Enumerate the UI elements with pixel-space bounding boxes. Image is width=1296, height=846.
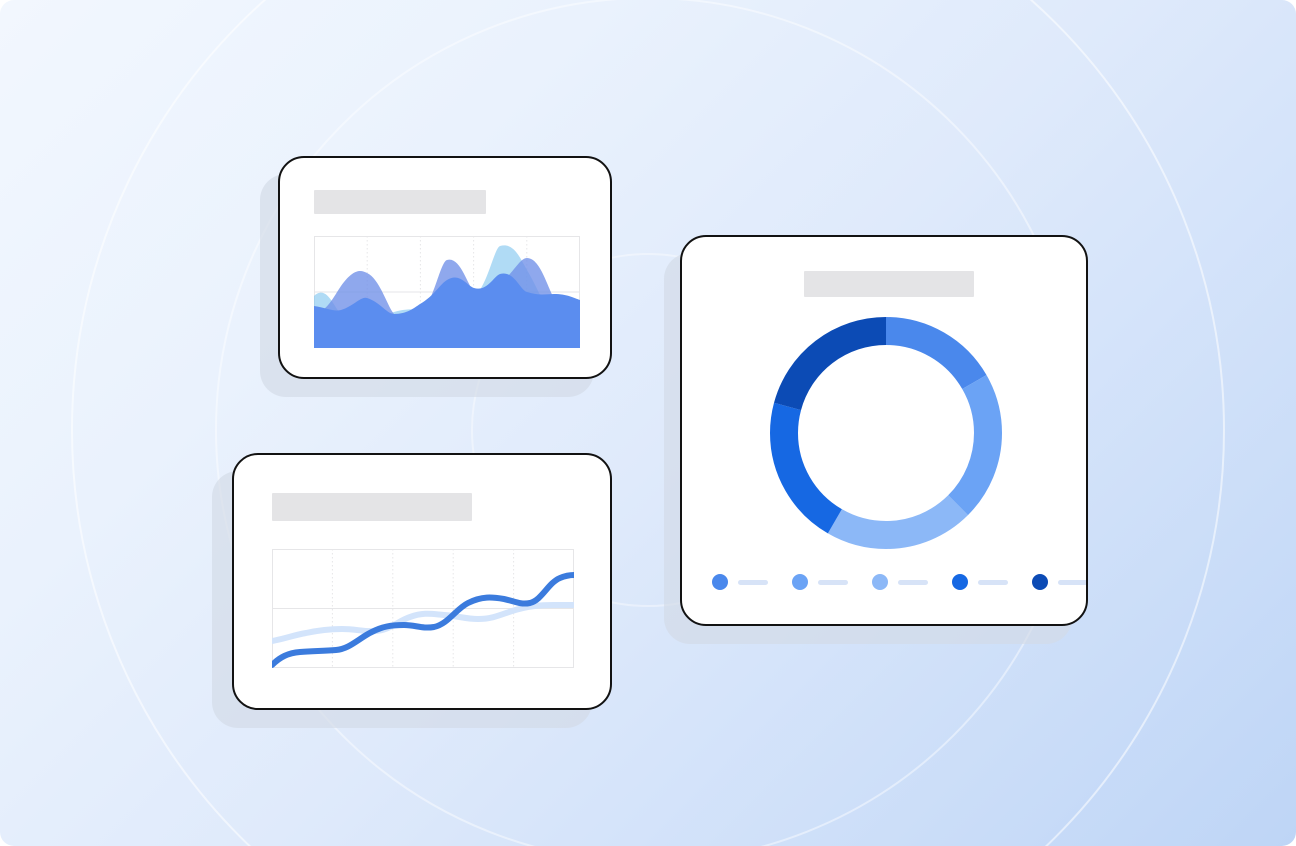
illustration-canvas	[0, 0, 1296, 846]
legend-item-4[interactable]	[952, 574, 1008, 590]
line-chart-card[interactable]	[232, 453, 612, 710]
legend-dot-3	[872, 574, 888, 590]
legend-dash-2	[818, 580, 848, 585]
legend-dash-3	[898, 580, 928, 585]
legend-dot-5	[1032, 574, 1048, 590]
legend-dash-5	[1058, 580, 1088, 585]
legend-dash-1	[738, 580, 768, 585]
donut-chart-plot	[770, 317, 1002, 549]
legend-dot-2	[792, 574, 808, 590]
area-chart-card[interactable]	[278, 156, 612, 379]
legend-dash-4	[978, 580, 1008, 585]
donut-card-title-placeholder	[804, 271, 974, 297]
legend-dot-1	[712, 574, 728, 590]
area-card-title-placeholder	[314, 190, 486, 214]
background-arcs	[0, 0, 1296, 846]
area-chart-plot	[314, 236, 580, 348]
legend-item-2[interactable]	[792, 574, 848, 590]
legend-dot-4	[952, 574, 968, 590]
donut-chart-card[interactable]	[680, 235, 1088, 626]
line-card-title-placeholder	[272, 493, 472, 521]
line-chart-plot	[272, 549, 574, 668]
legend-item-3[interactable]	[872, 574, 928, 590]
legend-item-5[interactable]	[1032, 574, 1088, 590]
legend-item-1[interactable]	[712, 574, 768, 590]
donut-legend	[712, 574, 1088, 590]
